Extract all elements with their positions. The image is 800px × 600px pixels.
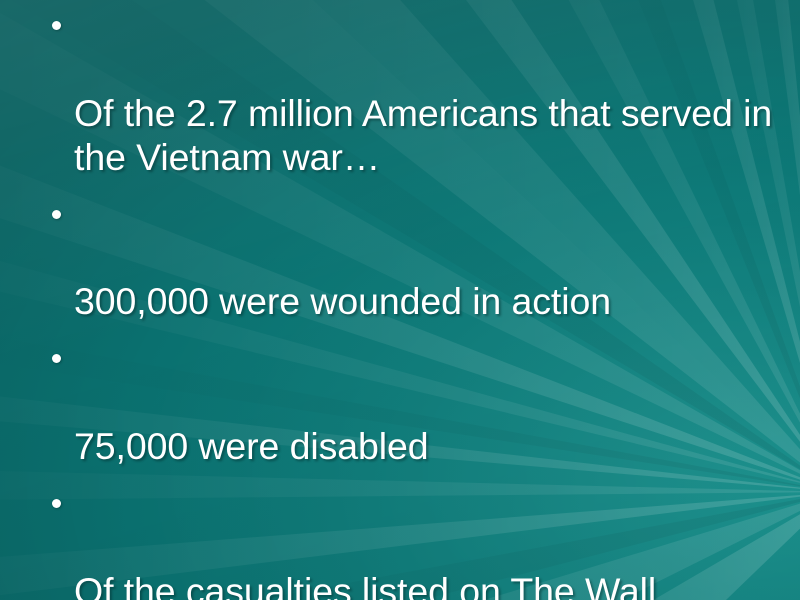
list-item-label: Of the 2.7 million Americans that served… (74, 92, 772, 178)
list-item: Of the casualties listed on The Wall, ap… (52, 482, 774, 600)
list-item-label: 300,000 were wounded in action (74, 280, 611, 322)
bullet-dot-icon (52, 21, 61, 30)
slide-content-placeholder: Of the 2.7 million Americans that served… (0, 0, 800, 600)
bullet-dot-icon (52, 499, 61, 508)
list-item: Of the 2.7 million Americans that served… (52, 4, 774, 180)
list-item: 300,000 were wounded in action (52, 193, 774, 325)
list-item-label: Of the casualties listed on The Wall, ap… (74, 570, 710, 600)
bullet-dot-icon (52, 210, 61, 219)
list-item: 75,000 were disabled (52, 337, 774, 469)
list-item-label: 75,000 were disabled (74, 425, 429, 467)
presentation-slide: Of the 2.7 million Americans that served… (0, 0, 800, 600)
bullet-dot-icon (52, 354, 61, 363)
bullet-list: Of the 2.7 million Americans that served… (52, 4, 792, 600)
